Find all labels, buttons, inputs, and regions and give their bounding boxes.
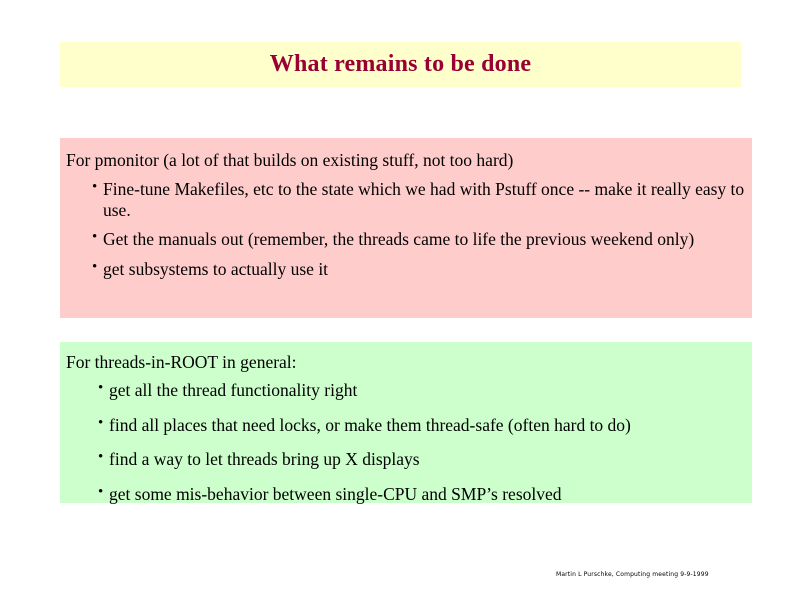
list-item: • get some mis-behavior between single-C…	[98, 484, 749, 504]
section-pmonitor-bullet-list: • Fine-tune Makefiles, etc to the state …	[60, 179, 752, 279]
list-item: • find all places that need locks, or ma…	[98, 415, 749, 435]
list-item-label: get subsystems to actually use it	[103, 259, 752, 279]
list-item: • Fine-tune Makefiles, etc to the state …	[92, 179, 752, 220]
bullet-icon: •	[98, 380, 103, 398]
list-item-label: get all the thread functionality right	[109, 380, 749, 400]
slide-footer: Martin L Purschke, Computing meeting 9-9…	[556, 571, 709, 578]
list-item: • get subsystems to actually use it	[92, 259, 752, 279]
page-title: What remains to be done	[270, 52, 532, 77]
list-item: • find a way to let threads bring up X d…	[98, 449, 749, 469]
list-item: • get all the thread functionality right	[98, 380, 749, 400]
list-item-label: get some mis-behavior between single-CPU…	[109, 484, 749, 504]
bullet-icon: •	[98, 415, 103, 433]
list-item-label: find all places that need locks, or make…	[109, 415, 749, 435]
slide-canvas: What remains to be done For pmonitor (a …	[0, 0, 800, 600]
bullet-icon: •	[92, 259, 97, 277]
section-threads-in-root-heading: For threads-in-ROOT in general:	[60, 342, 752, 372]
slide-title-band: What remains to be done	[60, 42, 741, 87]
list-item-label: Fine-tune Makefiles, etc to the state wh…	[103, 179, 752, 220]
bullet-icon: •	[92, 229, 97, 247]
section-threads-in-root-bullet-list: • get all the thread functionality right…	[60, 380, 752, 504]
list-item-label: find a way to let threads bring up X dis…	[109, 449, 749, 469]
list-item-label: Get the manuals out (remember, the threa…	[103, 229, 752, 249]
section-pmonitor-heading: For pmonitor (a lot of that builds on ex…	[60, 138, 752, 170]
list-item: • Get the manuals out (remember, the thr…	[92, 229, 752, 249]
bullet-icon: •	[98, 484, 103, 502]
section-threads-in-root: For threads-in-ROOT in general: • get al…	[60, 342, 752, 503]
bullet-icon: •	[92, 179, 97, 197]
bullet-icon: •	[98, 449, 103, 467]
section-pmonitor: For pmonitor (a lot of that builds on ex…	[60, 138, 752, 318]
